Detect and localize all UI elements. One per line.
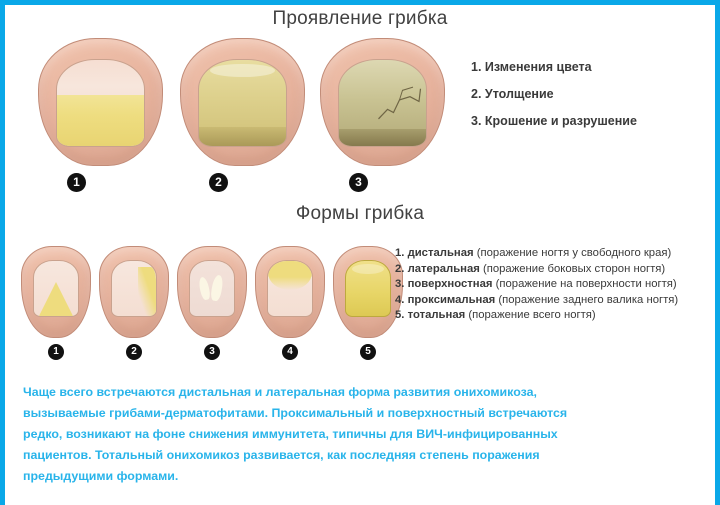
footer-note: Чаще всего встречаются дистальная и лате… [23,382,707,487]
item-number: 4. [395,294,404,306]
form-badge-4: 4 [282,344,298,360]
nail-plate [56,59,145,147]
item-term: латеральная [408,263,480,275]
nail-plate [198,59,287,147]
form-badge-1: 1 [48,344,64,360]
thickened-edge-shading [199,127,286,146]
item-description: (поражение ногтя у свободного края) [477,247,672,259]
superficial-white-patch-left [197,277,211,302]
nail-plate [33,260,79,318]
nail-figure-superficial [177,246,247,338]
nail-plate [345,260,391,318]
toe-shape [177,246,247,338]
yellow-discoloration-band [57,95,144,147]
item-term: поверхностная [408,278,493,290]
forms-list: 1. дистальная (поражение ногтя у свободн… [395,247,678,325]
manifestation-list: 1. Изменения цвета 2. Утолщение 3. Кроше… [471,60,637,141]
toe-shape [320,38,445,166]
nail-figure-crumbling [320,38,445,166]
superficial-white-patch-right [210,274,224,301]
item-text: Изменения цвета [485,60,592,74]
top-border-bar [5,0,715,5]
section-title-forms: Формы грибка [5,203,715,225]
figure-badge-3: 3 [349,173,368,192]
item-description: (поражение всего ногтя) [468,309,595,321]
nail-figure-thickening [180,38,305,166]
section-title-manifestation: Проявление грибка [5,8,715,30]
item-number: 3. [395,278,404,290]
item-number: 1. [395,247,404,259]
nail-figure-lateral [99,246,169,338]
nail-plate [338,59,427,147]
footer-line: Чаще всего встречаются дистальная и лате… [23,382,707,403]
item-text: Крошение и разрушение [485,114,637,128]
plate-gloss [210,64,276,78]
nail-figure-proximal [255,246,325,338]
toe-shape [333,246,403,338]
destroyed-distal-zone [339,129,426,146]
item-text: Утолщение [485,87,554,101]
forms-list-item: 5. тотальная (поражение всего ногтя) [395,309,678,321]
item-number: 2. [471,87,481,101]
nail-figure-discoloration [38,38,163,166]
forms-list-item: 4. проксимальная (поражение заднего вали… [395,294,678,306]
figure-badge-2: 2 [209,173,228,192]
item-number: 3. [471,114,481,128]
item-term: проксимальная [408,294,496,306]
toe-shape [255,246,325,338]
nail-plate [267,260,313,318]
item-number: 5. [395,309,404,321]
forms-list-item: 1. дистальная (поражение ногтя у свободн… [395,247,678,259]
toe-shape [99,246,169,338]
crumbling-crack [377,84,422,124]
lateral-yellow-stripe [138,267,156,316]
footer-line: предыдущими формами. [23,466,707,487]
item-term: дистальная [408,247,474,259]
form-badge-3: 3 [204,344,220,360]
footer-line: редко, возникают на фоне снижения иммуни… [23,424,707,445]
distal-yellow-wedge [39,282,73,316]
item-description: (поражение боковых сторон ногтя) [483,263,665,275]
item-description: (поражение заднего валика ногтя) [498,294,678,306]
infographic-poster: Проявление грибка 1 2 [0,0,720,505]
form-badge-2: 2 [126,344,142,360]
footer-line: пациентов. Тотальный онихомикоз развивае… [23,445,707,466]
item-description: (поражение на поверхности ногтя) [496,278,677,290]
manifestation-list-item: 1. Изменения цвета [471,60,637,74]
total-plate-gloss [352,264,384,274]
nail-plate [189,260,235,318]
forms-list-item: 3. поверхностная (поражение на поверхнос… [395,278,678,290]
toe-shape [21,246,91,338]
toe-shape [38,38,163,166]
nail-figure-total [333,246,403,338]
item-number: 1. [471,60,481,74]
form-badge-5: 5 [360,344,376,360]
toe-shape [180,38,305,166]
forms-list-item: 2. латеральная (поражение боковых сторон… [395,263,678,275]
manifestation-list-item: 2. Утолщение [471,87,637,101]
footer-line: вызываемые грибами-дерматофитами. Прокси… [23,403,707,424]
item-number: 2. [395,263,404,275]
item-term: тотальная [408,309,466,321]
nail-figure-distal [21,246,91,338]
nail-plate [111,260,157,318]
proximal-yellow-zone [268,261,312,290]
manifestation-list-item: 3. Крошение и разрушение [471,114,637,128]
figure-badge-1: 1 [67,173,86,192]
